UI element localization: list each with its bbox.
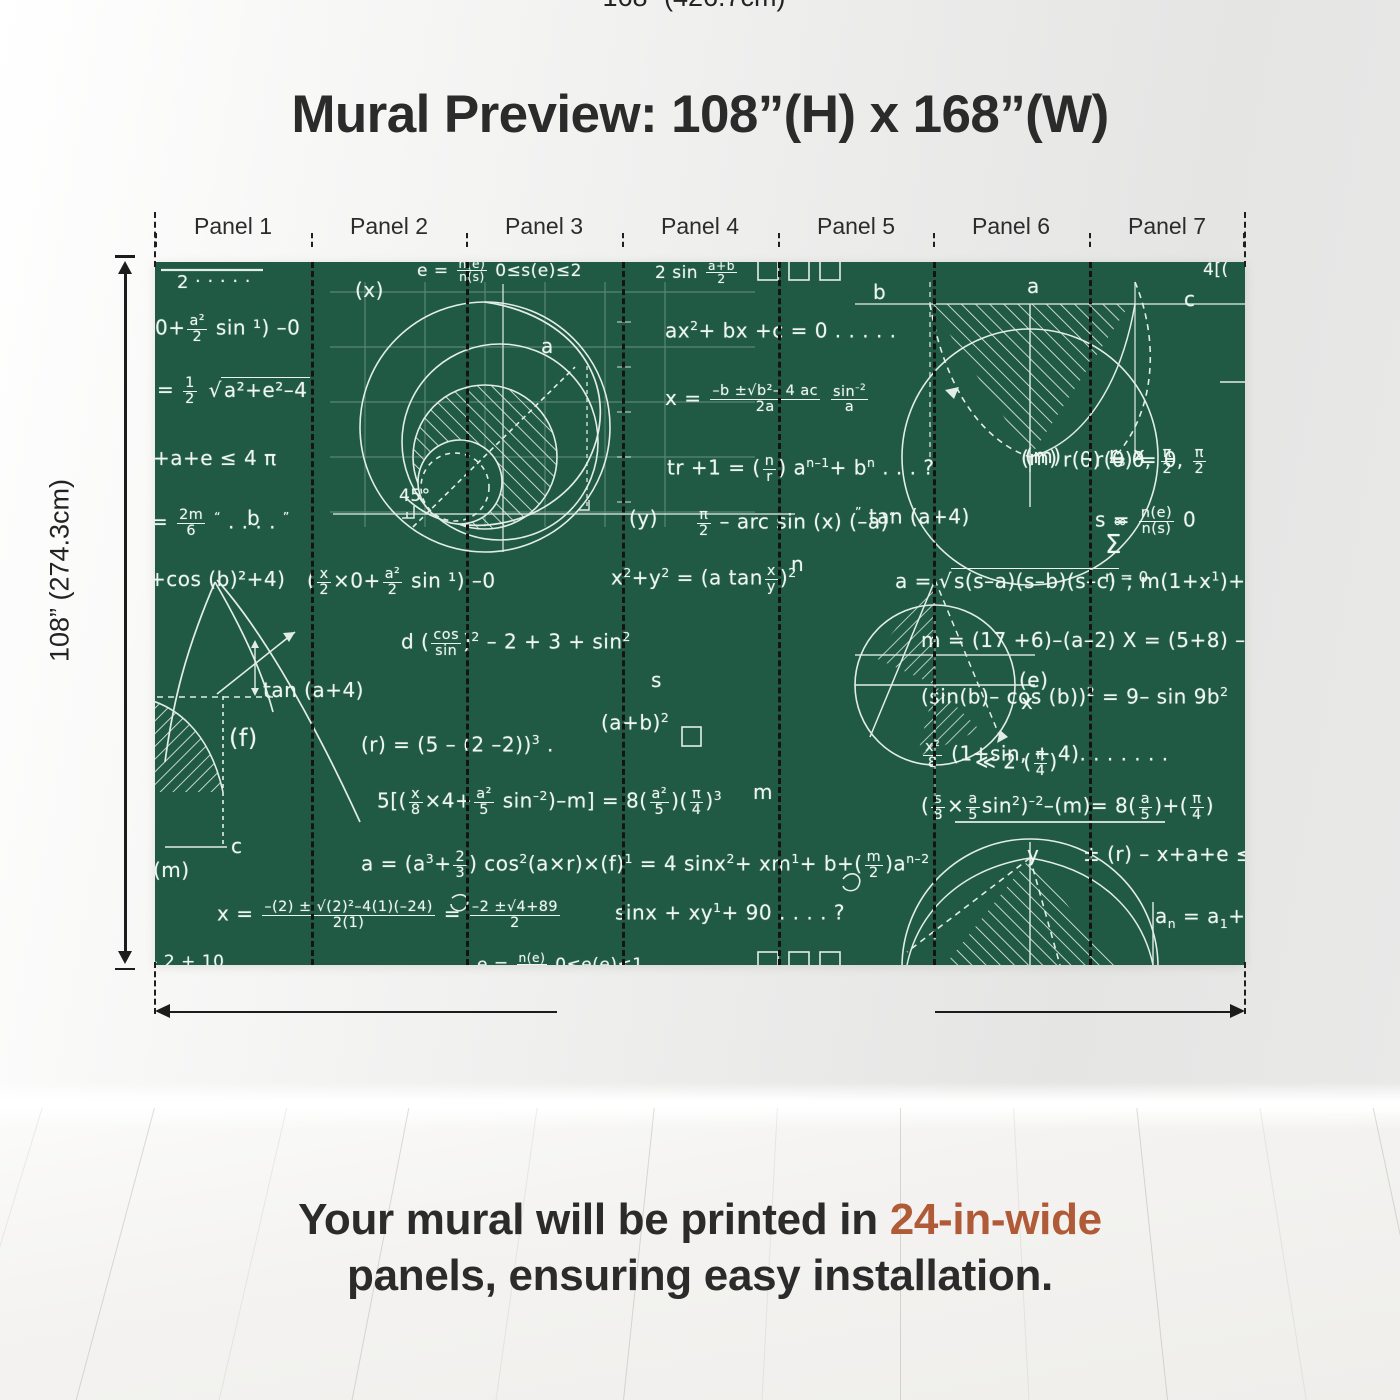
panel-tick-2 <box>466 233 468 247</box>
mural-edge-dash-left-top <box>154 212 156 267</box>
panel-tick-6 <box>1089 233 1091 247</box>
panel-label-7: Panel 7 <box>1089 213 1245 240</box>
panel-tick-1 <box>311 233 313 247</box>
mural-edge-dash-right-top <box>1244 212 1246 267</box>
panel-tick-5 <box>933 233 935 247</box>
height-dimension-arrow <box>118 255 132 970</box>
mural-split-1 <box>311 262 314 965</box>
panel-label-1: Panel 1 <box>155 213 311 240</box>
mural-split-4 <box>778 262 781 965</box>
page-title: Mural Preview: 108”(H) x 168”(W) <box>0 84 1400 145</box>
mural-preview[interactable]: 2 . . . . . 0+a²2 sin ¹) –0 = 12 √a²+e²–… <box>155 262 1245 965</box>
caption-accent-text: 24-in-wide <box>890 1195 1102 1244</box>
caption-line-1: Your mural will be printed in 24-in-wide <box>0 1192 1400 1248</box>
height-dimension-label: 108” (274.3cm) <box>45 371 76 771</box>
mural-split-5 <box>933 262 936 965</box>
width-dimension-label: 168” (426.7cm) <box>549 0 839 13</box>
mural-split-6 <box>1089 262 1092 965</box>
caption-line-1-text: Your mural will be printed in <box>298 1195 890 1244</box>
mural-split-2 <box>466 262 469 965</box>
mural-split-3 <box>622 262 625 965</box>
caption-line-2: panels, ensuring easy installation. <box>0 1248 1400 1304</box>
width-dimension-arrow <box>155 1004 1245 1020</box>
panel-label-5: Panel 5 <box>778 213 934 240</box>
panel-label-2: Panel 2 <box>311 213 467 240</box>
panel-label-6: Panel 6 <box>933 213 1089 240</box>
caption: Your mural will be printed in 24-in-wide… <box>0 1192 1400 1305</box>
panel-label-row: Panel 1 Panel 2 Panel 3 Panel 4 Panel 5 … <box>155 213 1245 247</box>
chalkboard-mural-image[interactable]: 2 . . . . . 0+a²2 sin ¹) –0 = 12 √a²+e²–… <box>155 262 1245 965</box>
panel-label-3: Panel 3 <box>466 213 622 240</box>
chalk-diagrams <box>155 262 1245 965</box>
panel-tick-4 <box>778 233 780 247</box>
panel-label-4: Panel 4 <box>622 213 778 240</box>
panel-tick-3 <box>622 233 624 247</box>
